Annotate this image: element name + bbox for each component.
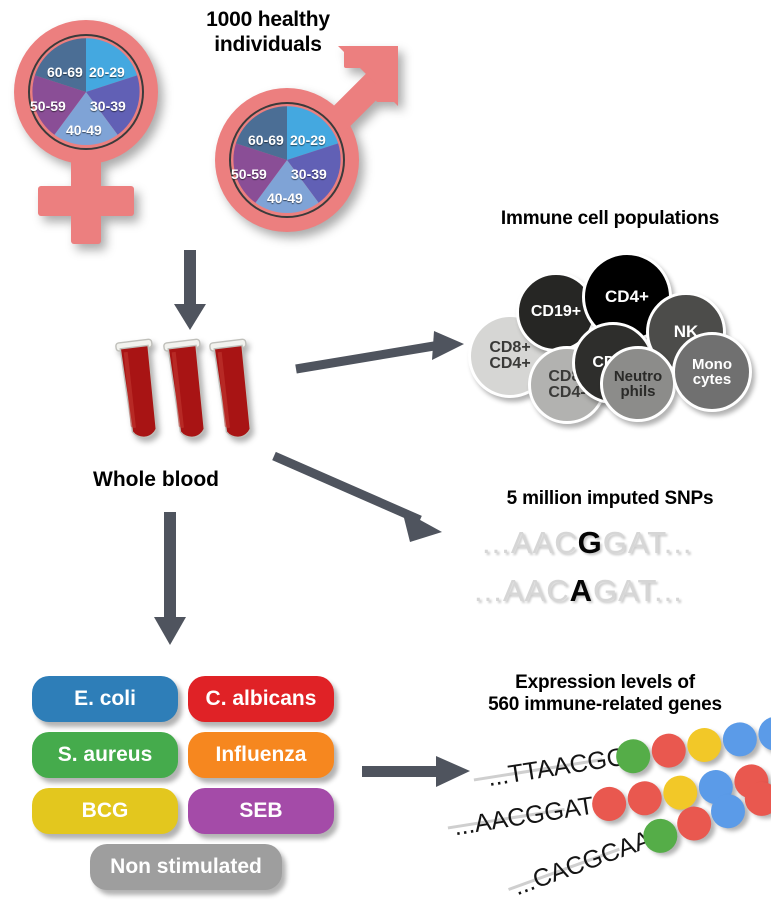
female-age-label-20-29: 20-29	[89, 64, 125, 80]
cell-label-line2: CD4+	[489, 356, 530, 372]
arrow-down-right-icon	[270, 448, 450, 546]
arrow-blood-to-snp	[270, 448, 450, 546]
cell-label-line1: CD8+	[489, 340, 530, 356]
male-age-pie: 20-29 30-39 40-49 50-59 60-69	[229, 102, 345, 218]
stimulus-label: E. coli	[74, 687, 136, 711]
male-age-label-20-29: 20-29	[290, 132, 326, 148]
blood-tubes-icon	[108, 335, 258, 457]
rna-bead	[720, 720, 759, 759]
male-age-label-30-39: 30-39	[291, 166, 327, 182]
arrow-up-right-icon	[292, 327, 467, 377]
arrow-down-icon	[170, 250, 210, 332]
male-age-label-60-69: 60-69	[248, 132, 284, 148]
whole-blood-label: Whole blood	[93, 468, 219, 492]
snp-sequence-row-2: ...AACAGAT...	[474, 573, 683, 609]
snp-prefix: ...AAC	[474, 573, 570, 608]
snp-prefix: ...AAC	[482, 525, 578, 560]
expression-title-line1: Expression levels of	[440, 672, 770, 694]
female-age-label-40-49: 40-49	[66, 122, 102, 138]
female-age-label-60-69: 60-69	[47, 64, 83, 80]
arrow-down-icon	[150, 512, 190, 647]
snp-suffix: GAT...	[603, 525, 693, 560]
expression-title: Expression levels of 560 immune-related …	[440, 672, 770, 717]
stimulus-label: BCG	[82, 799, 129, 823]
female-age-label-50-59: 50-59	[30, 98, 66, 114]
cell-label-line1: Mono	[692, 357, 732, 372]
cell-label-line1: Neutro	[614, 369, 662, 384]
stimulus-label: SEB	[239, 799, 282, 823]
rna-bead	[590, 784, 629, 823]
snp-variant-allele: G	[578, 525, 603, 560]
cell-label: CD4+	[605, 288, 649, 305]
rna-strands: ...TTAACGG ...AACGGAT ...CACGCAA	[455, 735, 771, 900]
snp-suffix: GAT...	[593, 573, 683, 608]
figure-canvas: 1000 healthy individuals 20-29 30-39 40-…	[0, 0, 771, 922]
stimulus-label: C. albicans	[206, 687, 317, 711]
stimulus-c-albicans[interactable]: C. albicans	[188, 676, 334, 722]
stimulus-non-stimulated[interactable]: Non stimulated	[90, 844, 282, 890]
male-age-label-40-49: 40-49	[267, 190, 303, 206]
arrow-cohort-to-blood	[170, 250, 210, 332]
male-gender-symbol: 20-29 30-39 40-49 50-59 60-69	[202, 42, 402, 247]
stimulus-label: Influenza	[215, 743, 306, 767]
female-age-pie: 20-29 30-39 40-49 50-59 60-69	[28, 34, 144, 150]
stimulus-e-coli[interactable]: E. coli	[32, 676, 178, 722]
stimulus-label: S. aureus	[58, 743, 153, 767]
stimulus-seb[interactable]: SEB	[188, 788, 334, 834]
arrow-blood-to-immune	[292, 327, 467, 377]
rna-strand-1-sequence: ...TTAACGG	[486, 743, 629, 794]
immune-cell-cluster: CD8+ CD4+ CD19+ CD8- CD4- CD4+ CD8+ NK	[450, 240, 770, 415]
whole-blood-tubes	[108, 335, 258, 457]
snp-sequences: ...AACGGAT... ...AACAGAT...	[470, 525, 760, 615]
stimulus-influenza[interactable]: Influenza	[188, 732, 334, 778]
immune-populations-title: Immune cell populations	[450, 208, 770, 230]
female-gender-symbol: 20-29 30-39 40-49 50-59 60-69	[8, 14, 188, 249]
snp-sequence-row-1: ...AACGGAT...	[482, 525, 693, 561]
rna-bead	[685, 726, 724, 765]
snp-variant-allele: A	[570, 573, 593, 608]
stimuli-panel: E. coli C. albicans S. aureus Influenza …	[32, 676, 342, 892]
expression-title-line2: 560 immune-related genes	[440, 694, 770, 716]
cell-label-line2: phils	[614, 384, 662, 399]
snp-title: 5 million imputed SNPs	[450, 488, 770, 510]
cell-label: CD19+	[531, 304, 581, 320]
stimulus-s-aureus[interactable]: S. aureus	[32, 732, 178, 778]
cell-label-line2: cytes	[692, 372, 732, 387]
immune-cell-neutrophils: Neutro phils	[600, 346, 676, 422]
rna-bead	[625, 779, 664, 818]
stimulus-label: Non stimulated	[110, 855, 262, 879]
rna-bead	[756, 714, 771, 753]
arrow-blood-to-stimuli	[150, 512, 190, 647]
female-age-label-30-39: 30-39	[90, 98, 126, 114]
stimulus-bcg[interactable]: BCG	[32, 788, 178, 834]
rna-bead	[649, 731, 688, 770]
male-age-label-50-59: 50-59	[231, 166, 267, 182]
immune-cell-monocytes: Mono cytes	[672, 332, 752, 412]
